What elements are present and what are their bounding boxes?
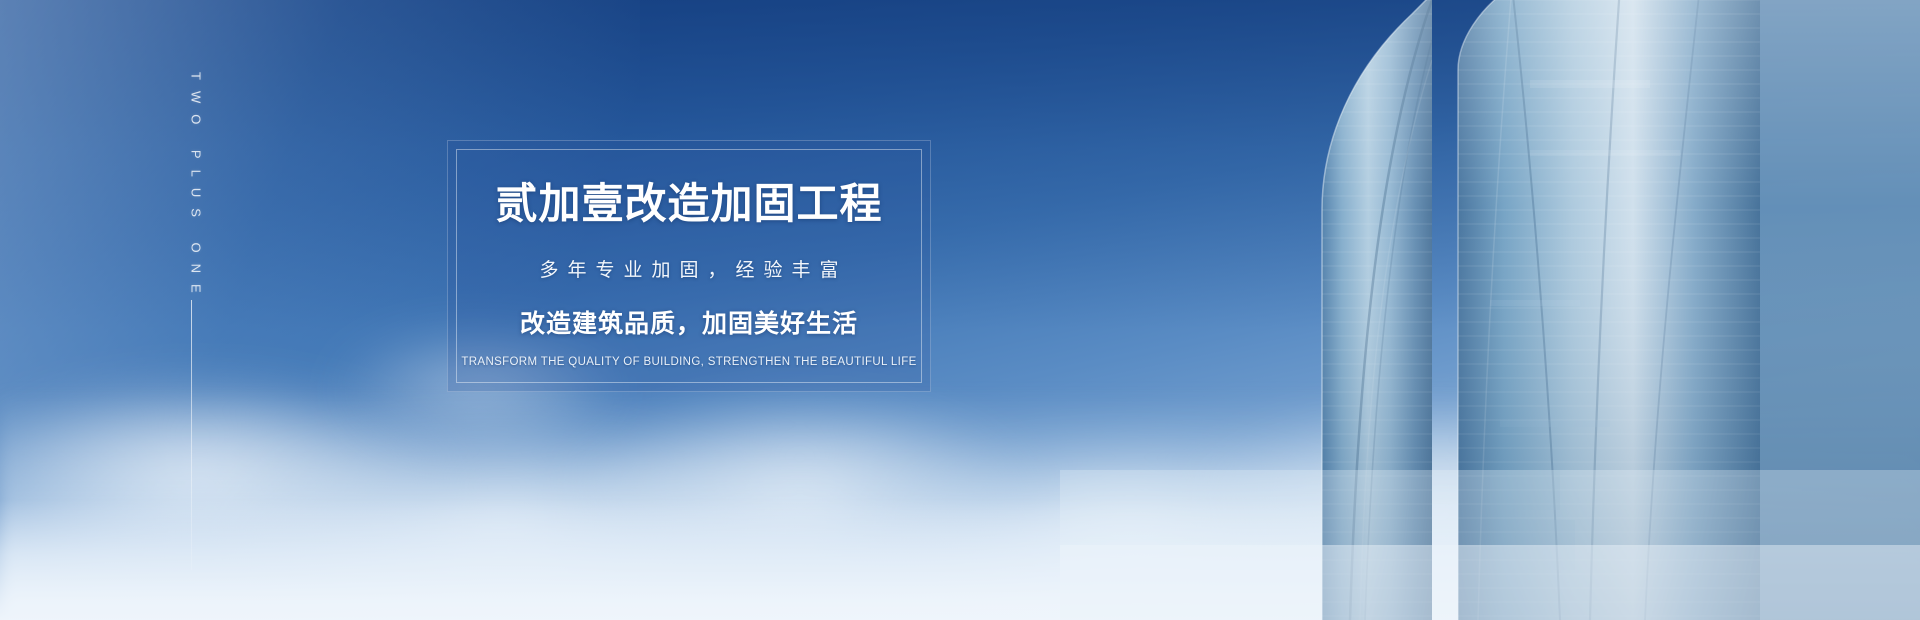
headline-panel-content: 贰加壹改造加固工程 多年专业加固，经验丰富 改造建筑品质，加固美好生活 TRAN… (448, 141, 930, 391)
banner-tagline: 改造建筑品质，加固美好生活 (520, 304, 858, 340)
banner-english-tagline: TRANSFORM THE QUALITY OF BUILDING, STREN… (461, 356, 916, 368)
vertical-brand-mark: TWO PLUS ONE (176, 72, 216, 312)
banner-subtitle: 多年专业加固，经验丰富 (530, 255, 847, 282)
skyscraper-group (1060, 0, 1920, 620)
headline-panel: 贰加壹改造加固工程 多年专业加固，经验丰富 改造建筑品质，加固美好生活 TRAN… (447, 140, 931, 392)
hero-banner: TWO PLUS ONE 贰加壹改造加固工程 多年专业加固，经验丰富 改造建筑品… (0, 0, 1920, 620)
vertical-brand-text: TWO PLUS ONE (189, 72, 204, 304)
vertical-divider-line (191, 300, 192, 570)
banner-title: 贰加壹改造加固工程 (495, 183, 882, 225)
